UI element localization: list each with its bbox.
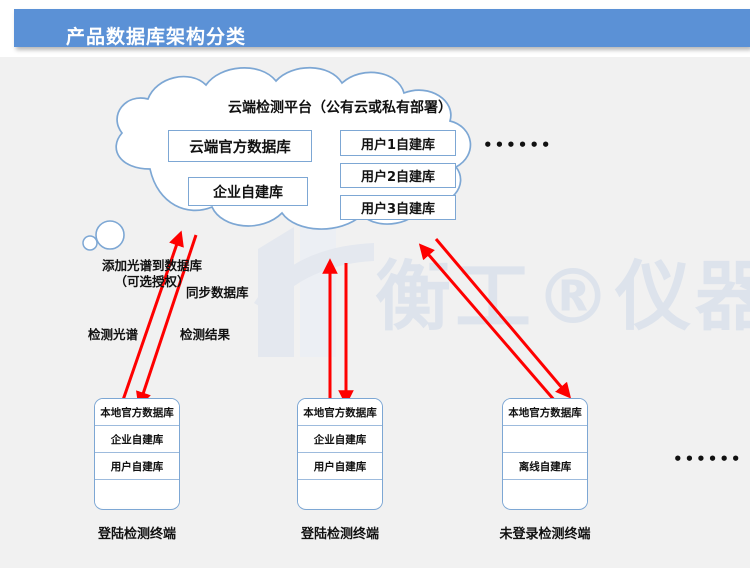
arrow-label-add-spectrum-line1: 添加光谱到数据库 [88,258,216,274]
terminal-row [95,480,179,507]
terminal-device-3[interactable]: 本地官方数据库 离线自建库 [502,398,588,510]
cloud-title: 云端检测平台（公有云或私有部署） [190,97,490,117]
cloud-box-user3-db[interactable]: 用户3自建库 [340,195,456,220]
arrow-label-detect-spectrum: 检测光谱 [88,324,138,343]
terminal-row [503,480,587,507]
terminal-row [298,480,382,507]
diagram-canvas: 衡工®仪器 [0,57,750,568]
terminal-caption-3: 未登录检测终端 [470,523,620,542]
terminal-row: 用户自建库 [298,453,382,480]
arrow-right-down [436,239,568,395]
terminal-device-1[interactable]: 本地官方数据库 企业自建库 用户自建库 [94,398,180,510]
cloud-box-official-db[interactable]: 云端官方数据库 [168,130,312,162]
cloud-ellipsis: •••••• [483,136,553,154]
arrow-label-sync-db: 同步数据库 [186,282,249,301]
terminal-row [503,426,587,453]
terminal-row: 本地官方数据库 [503,399,587,426]
terminal-row: 本地官方数据库 [95,399,179,426]
page-root: 产品数据库架构分类 衡工®仪器 [0,0,750,568]
terminal-row: 离线自建库 [503,453,587,480]
bottom-ellipsis: •••••• [673,450,743,468]
terminal-device-2[interactable]: 本地官方数据库 企业自建库 用户自建库 [297,398,383,510]
terminal-caption-1: 登陆检测终端 [62,523,212,542]
terminal-row: 企业自建库 [298,426,382,453]
arrow-right-up [422,247,555,401]
cloud-box-enterprise-db[interactable]: 企业自建库 [188,177,308,206]
header: 产品数据库架构分类 [0,0,750,57]
cloud-box-user1-db[interactable]: 用户1自建库 [340,130,456,156]
terminal-row: 本地官方数据库 [298,399,382,426]
terminal-caption-2: 登陆检测终端 [265,523,415,542]
cloud-box-user2-db[interactable]: 用户2自建库 [340,163,456,188]
title-bar: 产品数据库架构分类 [14,9,750,47]
arrow-label-detect-result: 检测结果 [180,324,230,343]
page-title: 产品数据库架构分类 [66,22,246,49]
terminal-row: 企业自建库 [95,426,179,453]
terminal-row: 用户自建库 [95,453,179,480]
